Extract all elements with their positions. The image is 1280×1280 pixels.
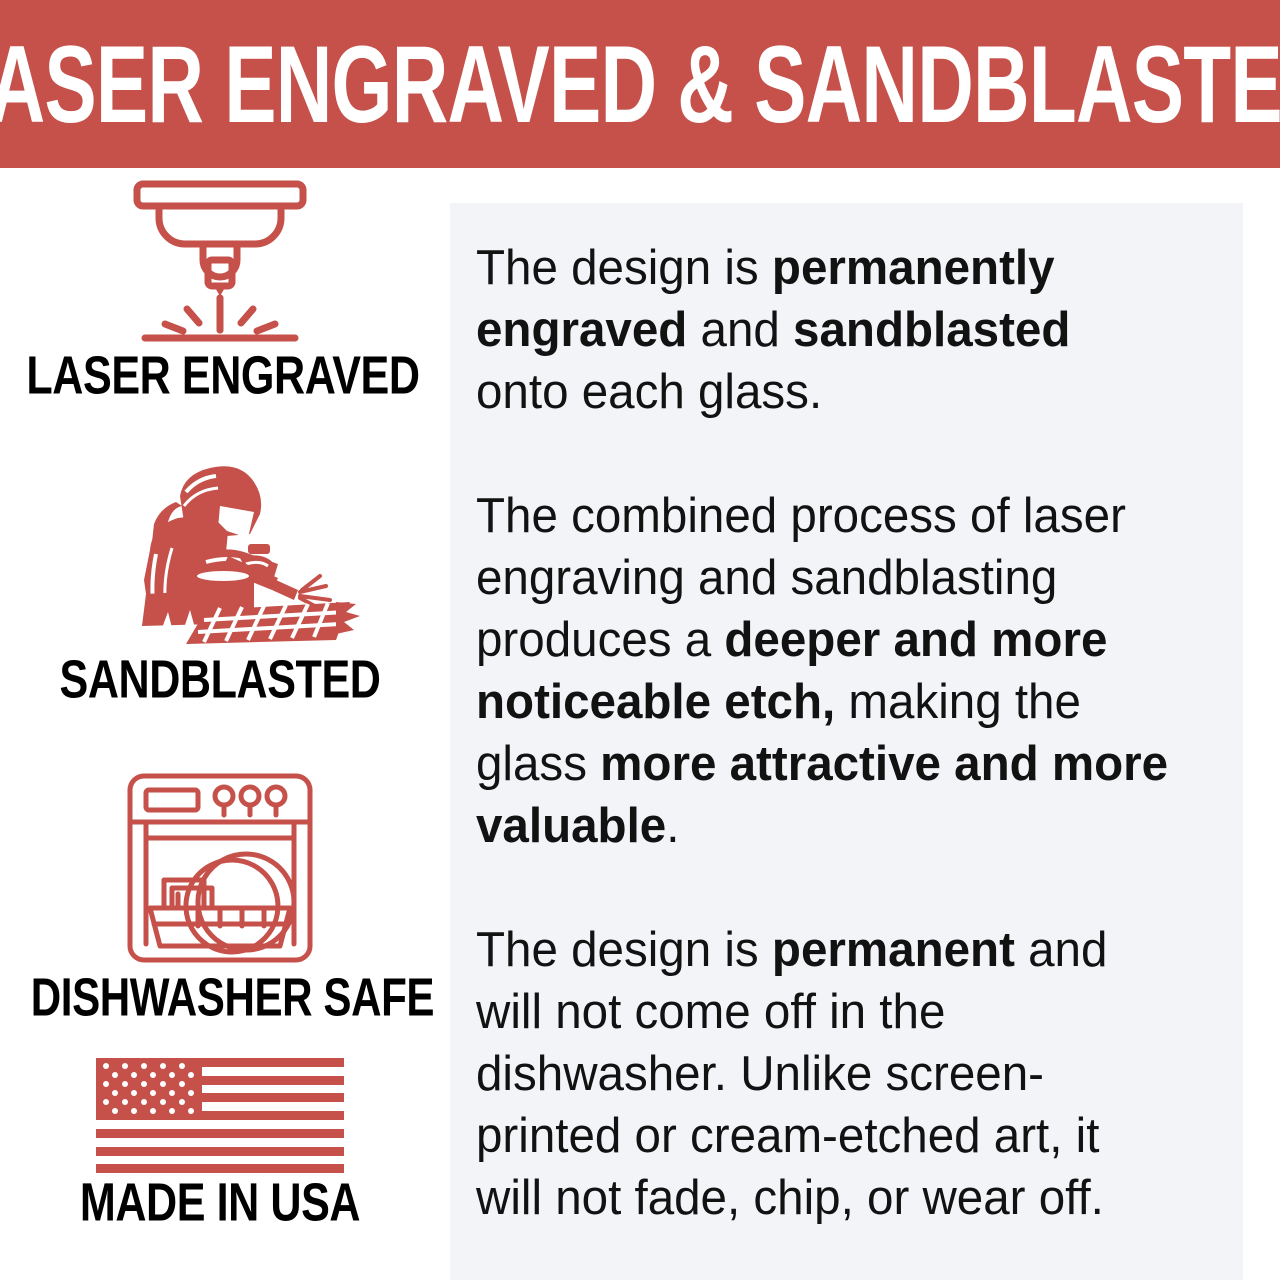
feature-label-made-in-usa: MADE IN USA bbox=[26, 1177, 413, 1231]
usa-flag-icon bbox=[0, 1058, 440, 1173]
header-banner: LASER ENGRAVED & SANDBLASTED bbox=[0, 0, 1280, 168]
feature-sandblasted: SANDBLASTED bbox=[0, 458, 440, 705]
feature-made-in-usa: MADE IN USA bbox=[0, 1058, 440, 1228]
paragraph-3: The design is permanent and will not com… bbox=[476, 919, 1170, 1229]
feature-dishwasher-safe: DISHWASHER SAFE bbox=[0, 768, 440, 1023]
sandblasting-worker-icon bbox=[0, 458, 440, 650]
feature-laser-engraved: LASER ENGRAVED bbox=[0, 178, 440, 401]
feature-label-laser-engraved: LASER ENGRAVED bbox=[26, 350, 413, 404]
page-title: LASER ENGRAVED & SANDBLASTED bbox=[0, 29, 1280, 139]
paragraph-1: The design is permanently engraved and s… bbox=[476, 237, 1170, 423]
content-area: LASER ENGRAVED bbox=[0, 168, 1280, 1280]
paragraph-2: The combined process of laser engraving … bbox=[476, 485, 1170, 857]
feature-label-sandblasted: SANDBLASTED bbox=[26, 654, 413, 708]
laser-engraver-icon bbox=[0, 178, 440, 346]
feature-column: LASER ENGRAVED bbox=[0, 168, 440, 1280]
feature-label-dishwasher-safe: DISHWASHER SAFE bbox=[31, 972, 409, 1026]
description-panel: The design is permanently engraved and s… bbox=[450, 203, 1243, 1280]
dishwasher-icon bbox=[0, 768, 440, 968]
